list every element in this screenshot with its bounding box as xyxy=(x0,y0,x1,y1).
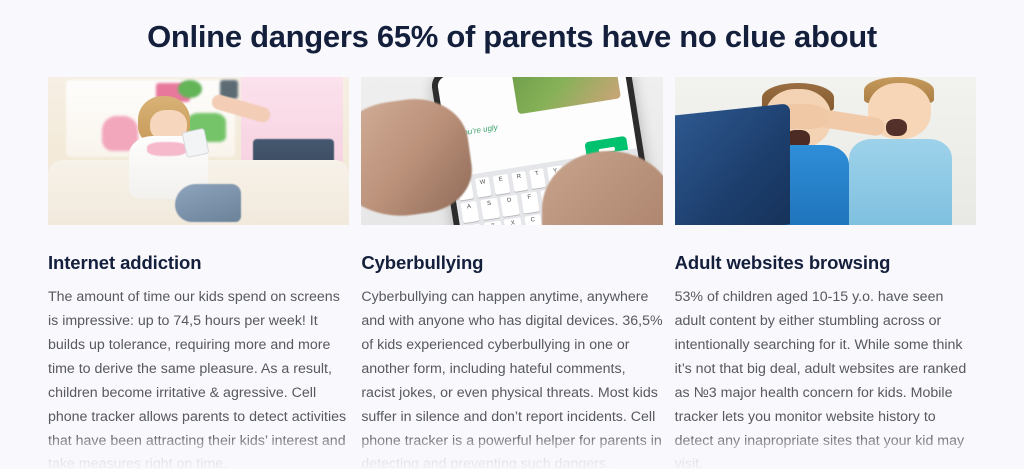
keyboard-key: C xyxy=(524,215,543,225)
message-photo-attachment xyxy=(510,77,621,114)
page-root: Online dangers 65% of parents have no cl… xyxy=(0,0,1024,469)
girl-on-sofa-with-phone-photo xyxy=(48,77,349,225)
toy-shape xyxy=(178,80,202,98)
card-title: Internet addiction xyxy=(48,252,349,274)
danger-cards-row: Internet addiction The amount of time ou… xyxy=(0,77,1024,469)
card-body-text: Cyberbullying can happen anytime, anywhe… xyxy=(361,286,662,469)
boys-at-laptop-photo xyxy=(675,77,976,225)
keyboard-key: E xyxy=(493,174,510,195)
keyboard-key: D xyxy=(500,196,519,217)
keyboard-key: S xyxy=(480,199,499,220)
smartphone-shape xyxy=(181,128,209,158)
girl-legs xyxy=(175,184,241,222)
keyboard-key: A xyxy=(460,202,479,223)
card-title: Adult websites browsing xyxy=(675,252,976,274)
keyboard-key: ♠ xyxy=(463,224,482,225)
keyboard-key: X xyxy=(504,218,523,225)
card-title: Cyberbullying xyxy=(361,252,662,274)
laptop-shape xyxy=(675,103,790,225)
girl-scarf xyxy=(147,142,186,155)
danger-card-cyberbullying: You’re ugly Q W E R T Y U I xyxy=(361,77,662,469)
second-boy-mouth xyxy=(886,119,907,137)
danger-card-internet-addiction: Internet addiction The amount of time ou… xyxy=(48,77,349,469)
page-title: Online dangers 65% of parents have no cl… xyxy=(0,0,1024,55)
second-boy-body xyxy=(849,139,951,225)
card-body-text: The amount of time our kids spend on scr… xyxy=(48,286,349,469)
keyboard-key: Z xyxy=(484,221,503,225)
keyboard-key: W xyxy=(474,177,491,198)
keyboard-key: F xyxy=(520,192,539,213)
keyboard-key: T xyxy=(529,168,546,189)
hand-typing-on-phone-photo: You’re ugly Q W E R T Y U I xyxy=(361,77,662,225)
keyboard-key: R xyxy=(511,171,528,192)
danger-card-adult-websites: Adult websites browsing 53% of children … xyxy=(675,77,976,469)
card-body-text: 53% of children aged 10-15 y.o. have see… xyxy=(675,286,976,469)
